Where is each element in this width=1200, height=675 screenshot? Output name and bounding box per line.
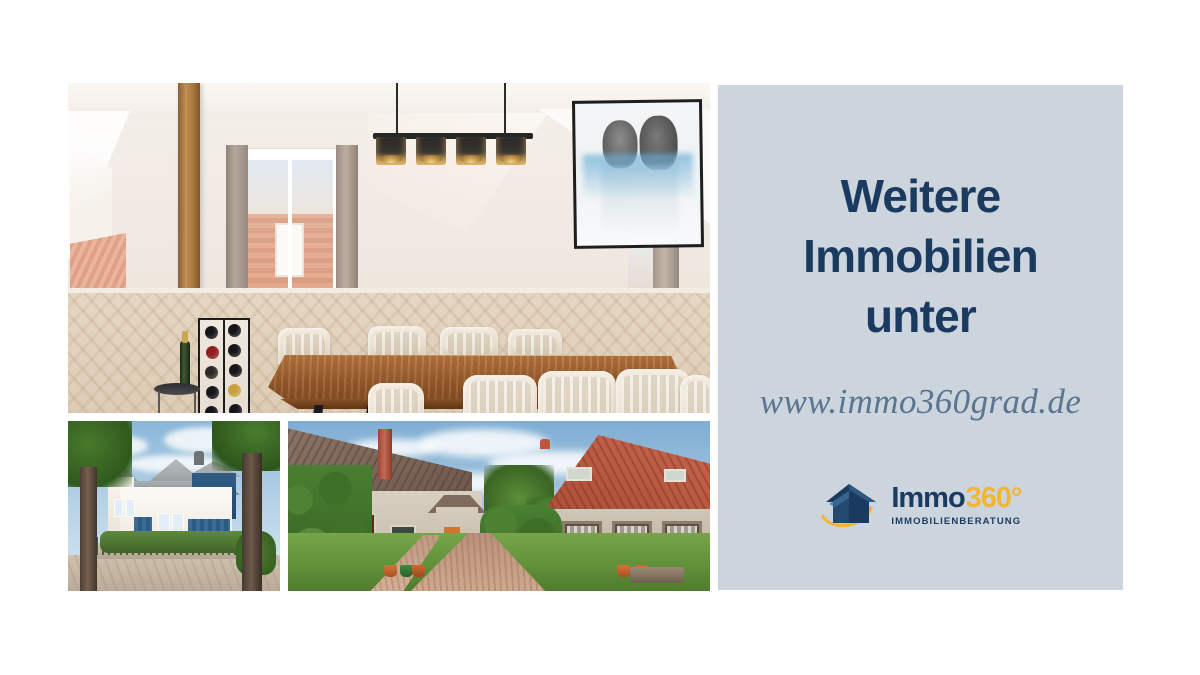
- dormer-window: [664, 469, 686, 482]
- dining-chair: [463, 375, 537, 413]
- wine-rack: [198, 318, 250, 413]
- chair-far: [440, 327, 498, 359]
- side-table-legs: [158, 391, 196, 413]
- tree-trunk: [80, 467, 97, 591]
- flower-pot: [617, 565, 630, 577]
- flower-pot: [384, 565, 397, 577]
- tree-right: [228, 421, 280, 591]
- lamp-glow: [460, 155, 482, 163]
- dining-chair: [616, 369, 690, 413]
- logo-wordmark-row: Immo 360°: [891, 484, 1021, 513]
- info-panel: Weitere Immobilien unter www.immo360grad…: [718, 85, 1123, 590]
- headline-line-3: unter: [803, 287, 1038, 347]
- brick-chimney: [378, 429, 392, 479]
- pendant-shade: [456, 137, 486, 165]
- courtyard-photo: [288, 421, 710, 591]
- tree-trunk: [242, 453, 262, 591]
- headline: Weitere Immobilien unter: [803, 167, 1038, 346]
- pendant-shade: [376, 137, 406, 165]
- house-window: [126, 499, 135, 517]
- artwork-blue-wash: [583, 153, 693, 197]
- dining-chair: [538, 371, 616, 413]
- roof-ridge-cap: [540, 439, 550, 449]
- dining-chair: [368, 383, 424, 413]
- framed-artwork: [572, 99, 704, 249]
- table-leg-left: [305, 405, 376, 413]
- champagne-bottle: [180, 341, 190, 389]
- chimney: [194, 451, 204, 465]
- logo-tagline: IMMOBILIENBERATUNG: [891, 517, 1021, 527]
- lamp-glow: [500, 155, 522, 163]
- house-with-swoosh-logo-icon: [819, 480, 881, 530]
- house-window: [172, 513, 184, 533]
- pendant-shade: [496, 137, 526, 165]
- house-window: [158, 513, 170, 533]
- flower-pot: [412, 565, 425, 577]
- promo-canvas: Weitere Immobilien unter www.immo360grad…: [0, 0, 1200, 675]
- tree-foliage: [68, 421, 132, 487]
- website-url[interactable]: www.immo360grad.de: [760, 382, 1082, 422]
- headline-line-1: Weitere: [803, 167, 1038, 227]
- chair-far: [368, 326, 426, 360]
- pendant-shade: [416, 137, 446, 165]
- villa-photo: [68, 421, 280, 591]
- dining-chair: [680, 375, 710, 413]
- immo360-logo[interactable]: Immo 360° IMMOBILIENBERATUNG: [819, 480, 1021, 530]
- headline-line-2: Immobilien: [803, 227, 1038, 287]
- chair-far: [508, 329, 562, 359]
- pendant-cord-left: [396, 83, 398, 135]
- logo-word-primary: Immo: [891, 484, 964, 513]
- tree-left: [68, 421, 110, 591]
- lamp-glow: [420, 155, 442, 163]
- dormer-window: [566, 467, 592, 481]
- lamp-glow: [380, 155, 402, 163]
- pendant-cord-right: [504, 83, 506, 135]
- dining-room-photo: [68, 83, 710, 413]
- logo-wordmark: Immo 360° IMMOBILIENBERATUNG: [891, 484, 1021, 527]
- house-window: [114, 499, 123, 517]
- logo-word-accent: 360°: [966, 484, 1022, 513]
- garden-bench: [630, 567, 684, 583]
